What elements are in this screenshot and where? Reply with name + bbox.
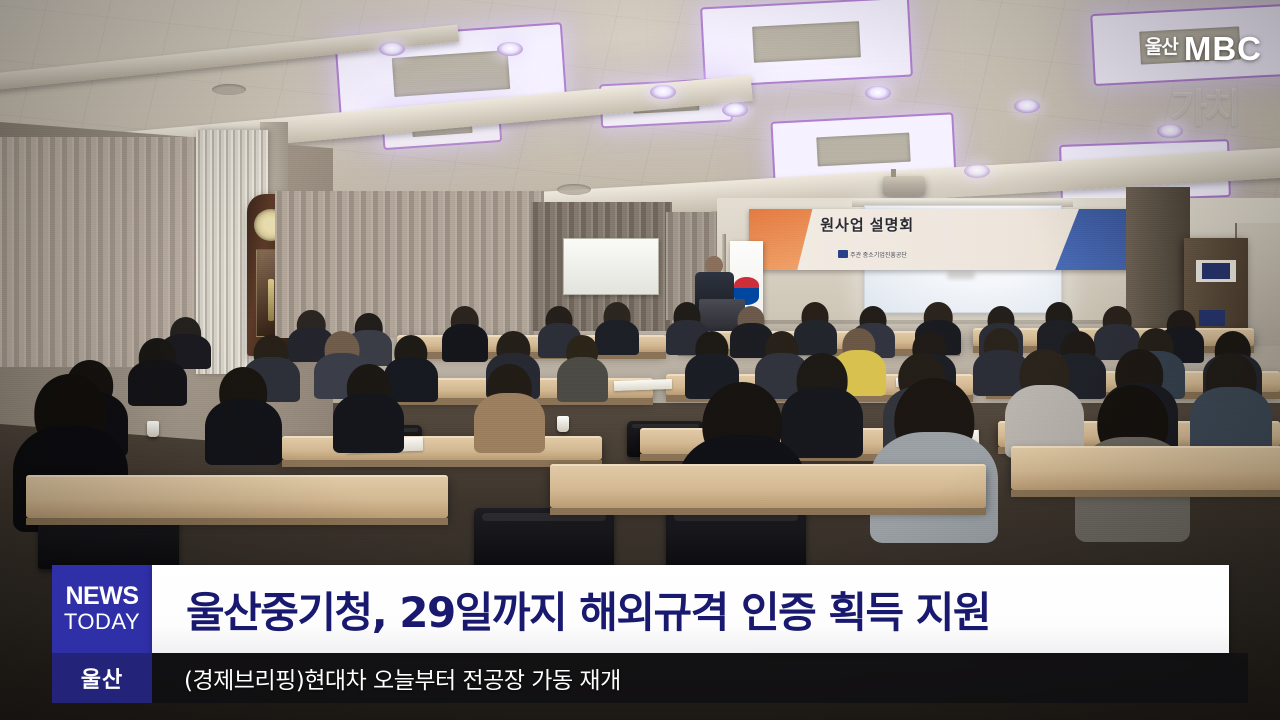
watermark-channel: MBC [1184,30,1262,67]
ceiling-panel-light [702,0,910,84]
audience-person [1005,349,1084,453]
audience-person [1190,353,1272,454]
headline-text: 울산중기청, 29일까지 해외규격 인증 획득 지원 [152,579,990,640]
audience-person [442,306,488,360]
seminar-table-foreground [550,464,985,507]
seminar-table-foreground [26,475,448,518]
audience-person [474,364,546,450]
whiteboard [563,238,659,296]
region-badge: 울산 [52,653,152,703]
audience-person [205,367,282,461]
downlight [722,103,748,117]
network-watermark: 울산MBC [1145,30,1262,68]
audience-person [333,364,405,450]
event-banner: 원사업 설명회 주관 중소기업진흥공단 [749,209,1146,270]
secondary-watermark: 가치 [1170,76,1238,134]
news-ticker: (경제브리핑)현대차 오늘부터 전공장 가동 재개 [152,653,1248,703]
program-logo: NEWS TODAY [52,565,152,653]
audience-person [557,335,608,400]
broadcast-video-frame: 원사업 설명회 주관 중소기업진흥공단 [0,0,1280,720]
seminar-table [282,436,602,460]
ceiling-vent [557,184,591,195]
ceiling-vent [212,84,246,95]
headline-bar: 울산중기청, 29일까지 해외규격 인증 획득 지원 [152,565,1229,653]
downlight [650,85,676,99]
program-logo-line2: TODAY [64,609,140,634]
audience-person [128,338,187,403]
ceiling-projector [883,176,925,196]
downlight [379,42,405,56]
seminar-table-foreground [1011,446,1280,489]
downlight [964,164,990,178]
downlight [865,86,891,100]
paper-cup [557,416,569,432]
banner-title: 원사업 설명회 [820,214,1066,246]
banner-subtitle: 주관 중소기업진흥공단 [836,250,1058,266]
program-logo-line1: NEWS [66,584,139,609]
region-badge-label: 울산 [81,662,123,694]
ticker-text: (경제브리핑)현대차 오늘부터 전공장 가동 재개 [152,661,621,695]
watermark-region: 울산 [1145,37,1178,58]
lower-third-graphics: NEWS TODAY 울산중기청, 29일까지 해외규격 인증 획득 지원 울산… [0,555,1280,720]
paper-cup [147,421,159,437]
downlight [497,42,523,56]
